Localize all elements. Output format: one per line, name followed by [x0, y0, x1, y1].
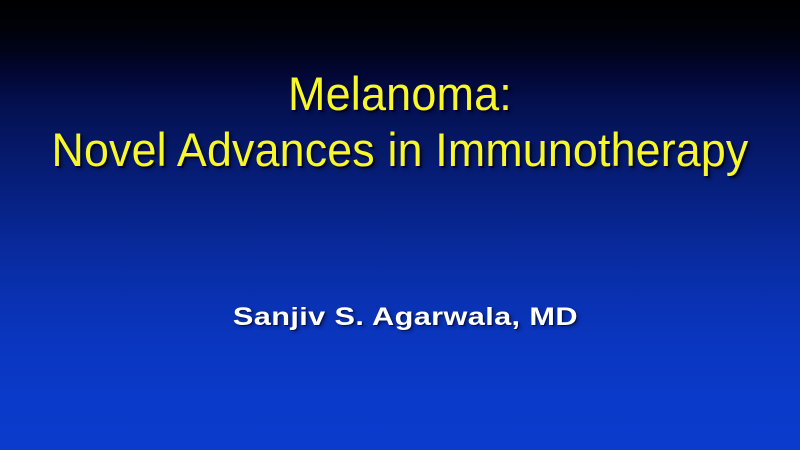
slide-title: Melanoma: Novel Advances in Immunotherap… [0, 66, 800, 178]
presenter-name: Sanjiv S. Agarwala, MD [232, 303, 577, 332]
title-line-2: Novel Advances in Immunotherapy [19, 122, 780, 178]
presenter-block: Sanjiv S. Agarwala, MD [0, 303, 800, 332]
title-slide: Melanoma: Novel Advances in Immunotherap… [0, 0, 800, 450]
title-line-1: Melanoma: [18, 66, 783, 122]
